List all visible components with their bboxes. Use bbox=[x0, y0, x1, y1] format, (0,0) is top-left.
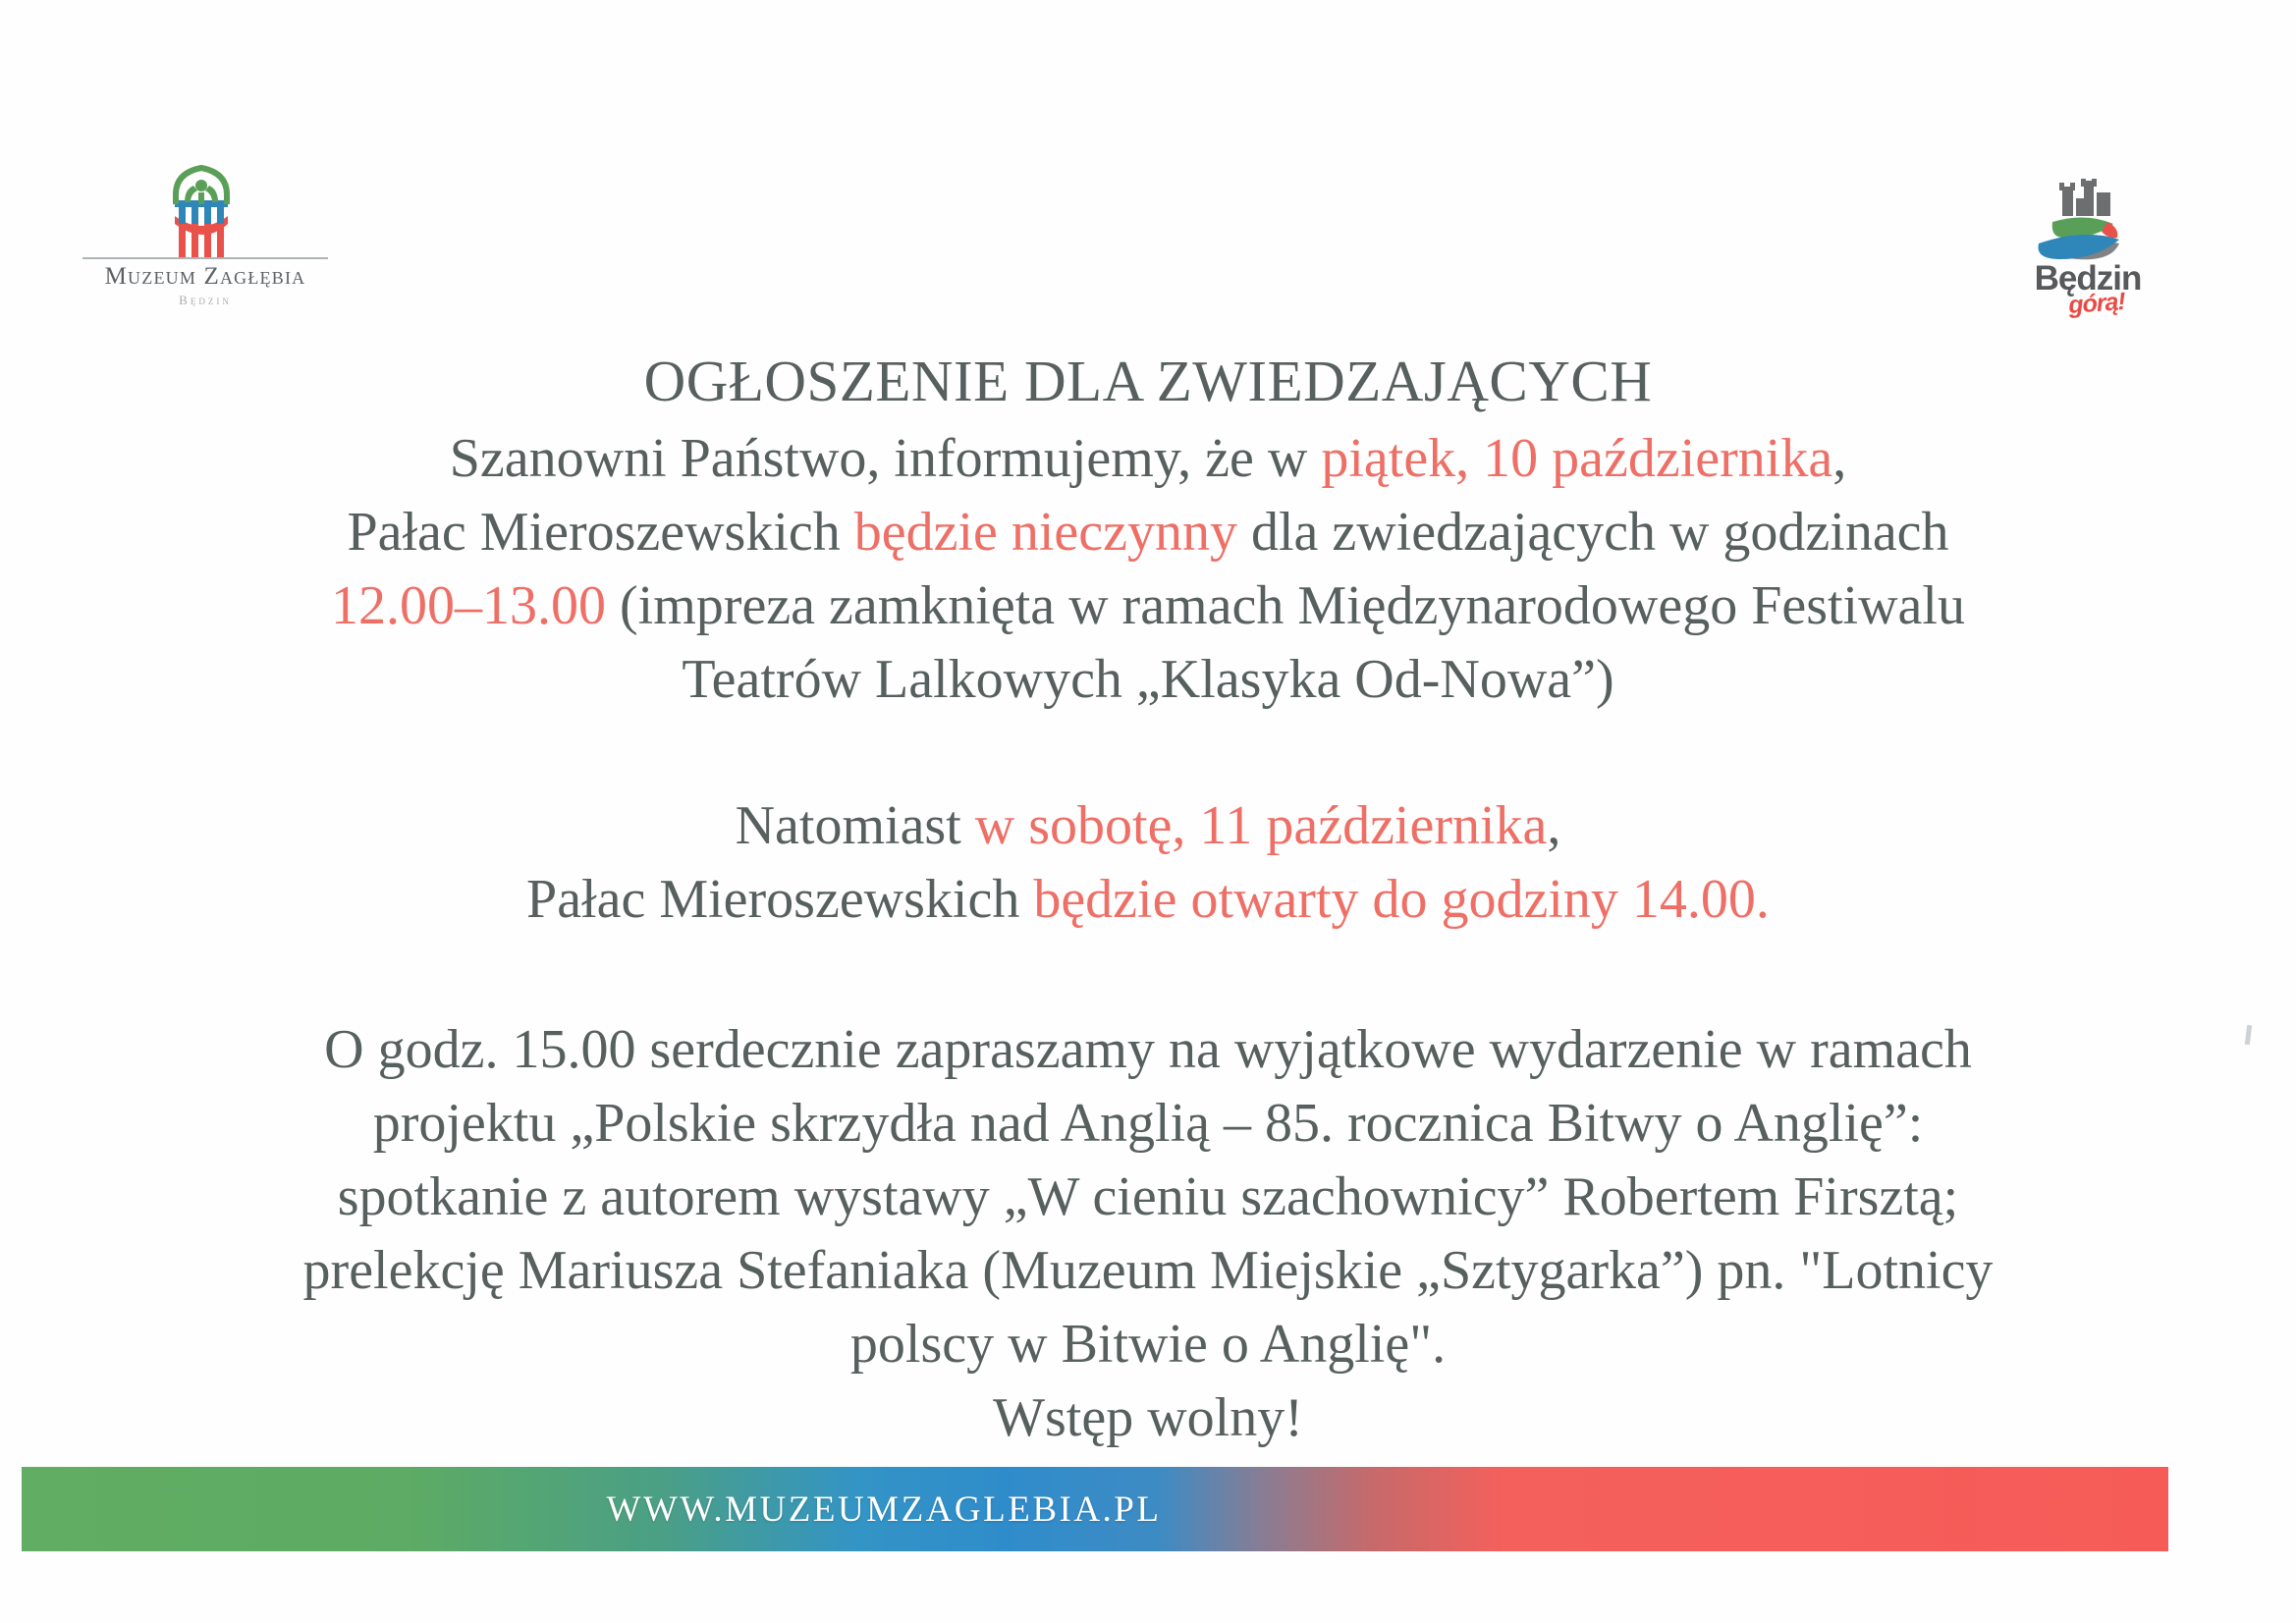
website-url[interactable]: WWW.MUZEUMZAGLEBIA.PL bbox=[22, 1467, 2168, 1551]
p1-l2-text-a: Pałac Mieroszewskich bbox=[347, 502, 853, 563]
p1-l2-text-b: dla zwiedzających w godzinach bbox=[1237, 502, 1949, 563]
paragraph2-line1: Natomiast w sobotę, 11 października, bbox=[147, 789, 2149, 863]
paragraph3-line3: spotkanie z autorem wystawy „W cieniu sz… bbox=[147, 1161, 2149, 1234]
paragraph-event-invitation: O godz. 15.00 serdecznie zapraszamy na w… bbox=[0, 1013, 2296, 1455]
announcement-page: Muzeum Zagłębia Będzin bbox=[0, 0, 2296, 1623]
paragraph1-line2: Pałac Mieroszewskich będzie nieczynny dl… bbox=[147, 496, 2149, 569]
museum-wordmark: Muzeum Zagłębia bbox=[82, 263, 328, 291]
p1-l2-highlight: będzie nieczynny bbox=[854, 502, 1237, 563]
museum-logo: Muzeum Zagłębia Będzin bbox=[82, 165, 328, 312]
paragraph1-line1: Szanowni Państwo, informujemy, że w piąt… bbox=[147, 422, 2149, 496]
museum-wordmark-subtitle: Będzin bbox=[82, 293, 328, 308]
paragraph1-line3: 12.00–13.00 (impreza zamknięta w ramach … bbox=[147, 569, 2149, 643]
announcement-body: OGŁOSZENIE DLA ZWIEDZAJĄCYCH Szanowni Pa… bbox=[0, 344, 2296, 1455]
paragraph3-line5: polscy w Bitwie o Anglię". bbox=[147, 1308, 2149, 1381]
p1-l3-text-b: (impreza zamknięta w ramach Międzynarodo… bbox=[606, 575, 1965, 636]
p2-l2-highlight: będzie otwarty do godziny 14.00. bbox=[1033, 869, 1770, 930]
p1-l1-highlight: piątek, 10 października bbox=[1321, 428, 1832, 489]
p2-l2-text-a: Pałac Mieroszewskich bbox=[526, 869, 1033, 930]
paragraph-friday-closure: Szanowni Państwo, informujemy, że w piąt… bbox=[0, 422, 2296, 717]
paragraph3-line1: O godz. 15.00 serdecznie zapraszamy na w… bbox=[147, 1013, 2149, 1087]
paragraph-saturday-hours: Natomiast w sobotę, 11 października, Pał… bbox=[0, 789, 2296, 937]
footer-gradient-band: WWW.MUZEUMZAGLEBIA.PL bbox=[22, 1467, 2168, 1551]
p2-l1-text-a: Natomiast bbox=[736, 795, 975, 856]
p1-l1-text-a: Szanowni Państwo, informujemy, że w bbox=[450, 428, 1322, 489]
paragraph1-line4: Teatrów Lalkowych „Klasyka Od-Nowa”) bbox=[147, 643, 2149, 717]
p1-l1-text-b: , bbox=[1832, 428, 1846, 489]
p2-l1-text-b: , bbox=[1547, 795, 1560, 856]
paragraph3-line6-free-entry: Wstęp wolny! bbox=[147, 1381, 2149, 1455]
museum-logo-divider bbox=[82, 257, 328, 259]
p2-l1-highlight: w sobotę, 11 października bbox=[975, 795, 1548, 856]
bedzin-hill-castle-mark bbox=[2023, 179, 2141, 267]
paragraph2-line2: Pałac Mieroszewskich będzie otwarty do g… bbox=[147, 863, 2149, 937]
bedzin-city-logo: Będzin górą! bbox=[2009, 179, 2166, 316]
paragraph3-line2: projektu „Polskie skrzydła nad Anglią – … bbox=[147, 1087, 2149, 1161]
gothic-window-emblem bbox=[169, 165, 240, 263]
page-title: OGŁOSZENIE DLA ZWIEDZAJĄCYCH bbox=[0, 344, 2296, 418]
paragraph3-line4: prelekcję Mariusza Stefaniaka (Muzeum Mi… bbox=[147, 1234, 2149, 1308]
p1-l3-highlight-hours: 12.00–13.00 bbox=[331, 575, 606, 636]
